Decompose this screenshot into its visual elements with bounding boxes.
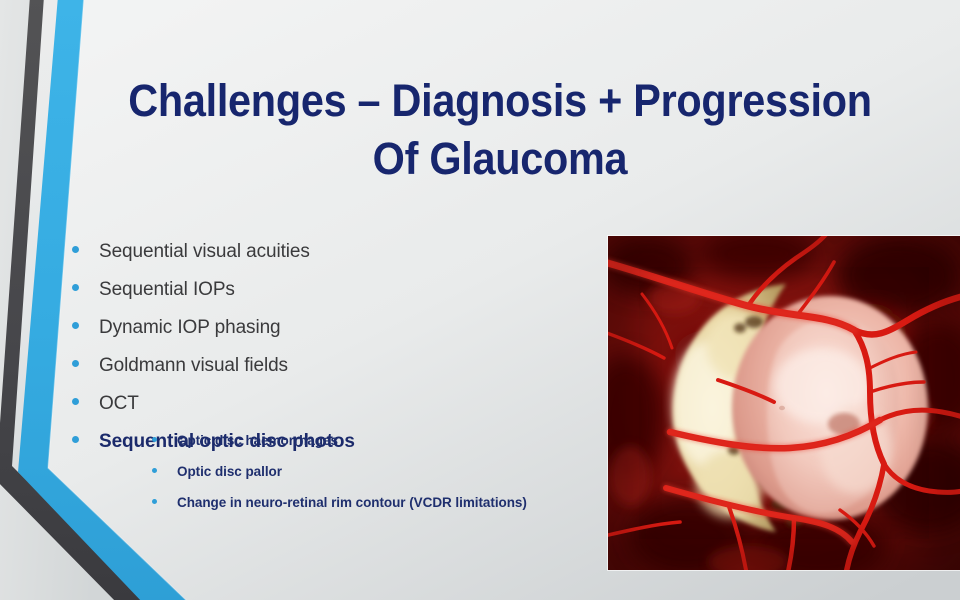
sub-bullet-label: Change in neuro-retinal rim contour (VCD… — [177, 490, 527, 516]
bullet-label: OCT — [99, 388, 139, 420]
bullet-label: Dynamic IOP phasing — [99, 312, 281, 344]
bullet-dot-icon — [72, 246, 79, 253]
slide-title: Challenges – Diagnosis + Progression Of … — [60, 72, 940, 188]
bullet-item: Goldmann visual fields — [72, 350, 592, 382]
bullet-dot-icon — [72, 322, 79, 329]
sub-bullet-dot-icon — [152, 468, 157, 473]
bullet-dot-icon — [72, 398, 79, 405]
slide-title-line-2: Of Glaucoma — [95, 130, 905, 188]
sub-bullet-dot-icon — [152, 499, 157, 504]
sub-bullet-dot-icon — [152, 437, 157, 442]
bullet-item: Sequential visual acuities — [72, 236, 592, 268]
bullet-item: Sequential IOPs — [72, 274, 592, 306]
bullet-dot-icon — [72, 284, 79, 291]
bullet-label: Sequential visual acuities — [99, 236, 310, 268]
sub-bullet-label: Optic disc pallor — [177, 459, 282, 485]
bullet-label: Goldmann visual fields — [99, 350, 288, 382]
bullet-label: Sequential IOPs — [99, 274, 235, 306]
slide-canvas: Challenges – Diagnosis + Progression Of … — [0, 0, 960, 600]
sub-bullet-label: Optic disc haemorrhages — [177, 428, 338, 454]
bullet-dot-icon — [72, 360, 79, 367]
slide-title-line-1: Challenges – Diagnosis + Progression — [95, 72, 905, 130]
optic-disc-fundus-photograph — [608, 236, 960, 570]
bullet-item: OCT — [72, 388, 592, 420]
fundus-image-artwork — [608, 236, 960, 570]
bullet-item: Dynamic IOP phasing — [72, 312, 592, 344]
bullet-dot-icon — [72, 436, 79, 443]
